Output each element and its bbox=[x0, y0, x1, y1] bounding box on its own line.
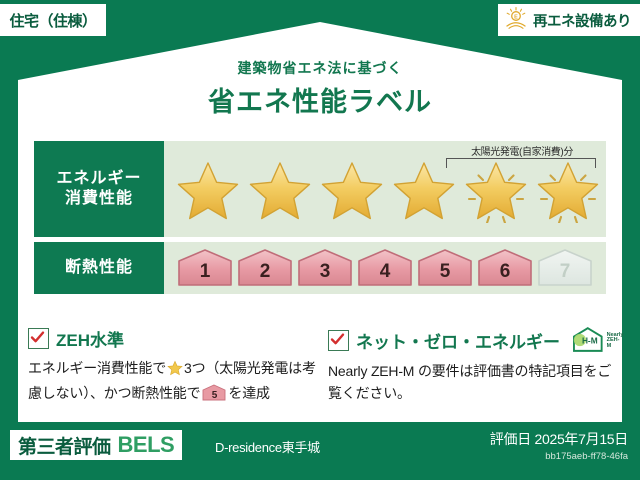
zeh-desc-part1: エネルギー消費性能で bbox=[28, 360, 166, 376]
bels-en-label: BELS bbox=[118, 432, 175, 458]
insulation-level-value: 1 bbox=[176, 261, 234, 283]
energy-performance-label: エネルギー 消費性能 bbox=[34, 141, 164, 237]
insulation-level-6[interactable]: 6 bbox=[476, 248, 534, 288]
insulation-level-value: 7 bbox=[536, 261, 594, 283]
inline-house-level-icon: 5 bbox=[202, 384, 226, 401]
star-filled bbox=[318, 155, 386, 223]
renewable-badge-label: 再エネ設備あり bbox=[533, 10, 631, 31]
bels-certification-badge: 第三者評価 BELS bbox=[10, 430, 182, 460]
star-solar bbox=[534, 155, 602, 223]
building-name: D-residence東手城 bbox=[215, 437, 320, 456]
insulation-level-2[interactable]: 2 bbox=[236, 248, 294, 288]
zeh-m-logo-sub: Nearly ZEH-M bbox=[607, 333, 624, 354]
insulation-level-scale: 1 2 3 4 5 bbox=[164, 248, 594, 288]
nze-checkbox[interactable] bbox=[328, 330, 349, 351]
inline-star-icon bbox=[167, 360, 183, 383]
insulation-level-value: 3 bbox=[296, 261, 354, 283]
svg-text:E: E bbox=[514, 14, 518, 20]
renewable-energy-badge: E 再エネ設備あり bbox=[498, 4, 640, 36]
insulation-level-value: 4 bbox=[356, 261, 414, 283]
energy-performance-label: 住宅（住棟） E 再エネ設備あり 建築物省エネ法に基づく 省エネ性能ラベル bbox=[0, 0, 640, 480]
star-filled bbox=[390, 155, 458, 223]
insulation-level-1[interactable]: 1 bbox=[176, 248, 234, 288]
energy-label-line1: エネルギー bbox=[56, 169, 141, 189]
housing-type-tag: 住宅（住棟） bbox=[0, 4, 106, 36]
zeh-m-logo: H-M Nearly ZEH-M bbox=[571, 326, 624, 354]
insulation-level-value: 2 bbox=[236, 261, 294, 283]
insulation-performance-label: 断熱性能 bbox=[34, 242, 164, 294]
insulation-level-value: 5 bbox=[416, 261, 474, 283]
zeh-standard-block: ZEH水準 エネルギー消費性能で3つ（太陽光発電は考慮しない）、かつ断熱性能で5… bbox=[28, 326, 318, 404]
zeh-check-header: ZEH水準 bbox=[28, 326, 318, 351]
energy-rating-area: 太陽光発電(自家消費)分 bbox=[164, 141, 606, 237]
zeh-checkbox[interactable] bbox=[28, 328, 49, 349]
insulation-level-7[interactable]: 7 bbox=[536, 248, 594, 288]
net-zero-energy-block: ネット・ゼロ・エネルギー H-M Nearly ZEH-M Nearly ZEH… bbox=[328, 326, 620, 404]
zeh-desc-part3: を達成 bbox=[228, 385, 269, 401]
zeh-m-sub-line2: ZEH-M bbox=[607, 337, 620, 349]
zeh-description: エネルギー消費性能で3つ（太陽光発電は考慮しない）、かつ断熱性能で5を達成 bbox=[28, 358, 318, 404]
insulation-rating-area: 1 2 3 4 5 bbox=[164, 242, 606, 294]
star-solar bbox=[462, 155, 530, 223]
energy-star-rating bbox=[164, 155, 602, 223]
star-filled bbox=[246, 155, 314, 223]
insulation-level-4[interactable]: 4 bbox=[356, 248, 414, 288]
label-main-title: 省エネ性能ラベル bbox=[0, 80, 640, 119]
star-filled bbox=[174, 155, 242, 223]
insulation-level-3[interactable]: 3 bbox=[296, 248, 354, 288]
evaluation-info: 評価日 2025年7月15日 bb175aeb-ff78-46fa bbox=[490, 429, 628, 462]
evaluation-date: 評価日 2025年7月15日 bbox=[490, 429, 628, 449]
bels-jp-label: 第三者評価 bbox=[18, 432, 111, 459]
sun-icon: E bbox=[504, 6, 528, 35]
insulation-level-value: 6 bbox=[476, 261, 534, 283]
insulation-performance-row: 断熱性能 1 2 3 4 bbox=[34, 242, 606, 294]
energy-label-line2: 消費性能 bbox=[65, 189, 133, 209]
energy-performance-row: エネルギー 消費性能 太陽光発電(自家消費)分 bbox=[34, 141, 606, 237]
label-subtitle: 建築物省エネ法に基づく bbox=[0, 58, 640, 78]
nze-title: ネット・ゼロ・エネルギー bbox=[356, 328, 560, 353]
svg-text:H-M: H-M bbox=[582, 335, 598, 345]
nze-description: Nearly ZEH-M の要件は評価書の特記項目をご覧ください。 bbox=[328, 361, 620, 404]
zeh-title: ZEH水準 bbox=[56, 326, 124, 351]
inline-house-level-value: 5 bbox=[202, 388, 226, 404]
nze-check-header: ネット・ゼロ・エネルギー H-M Nearly ZEH-M bbox=[328, 326, 620, 354]
insulation-level-5[interactable]: 5 bbox=[416, 248, 474, 288]
evaluation-id: bb175aeb-ff78-46fa bbox=[490, 451, 628, 462]
